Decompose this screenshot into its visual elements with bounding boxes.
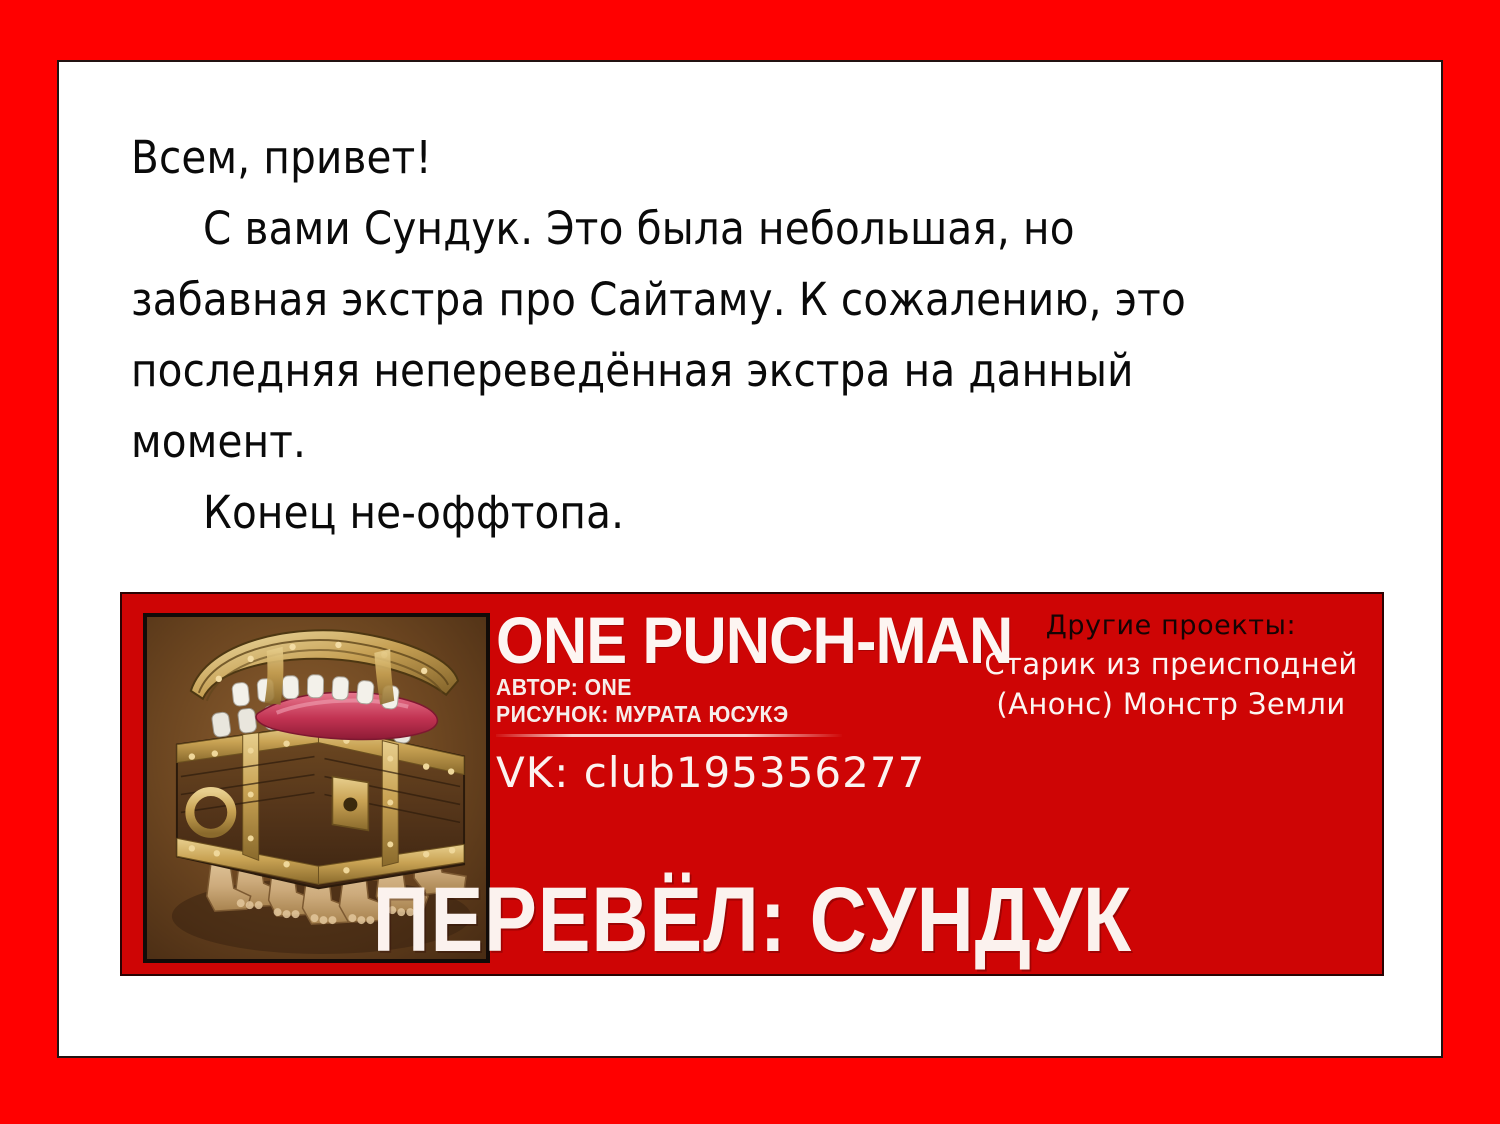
credit-artist: РИСУНОК: МУРАТА ЮСУКЭ	[496, 701, 928, 728]
credit-author: АВТОР: ONE	[496, 674, 928, 701]
translator-note-text: Всем, привет! С вами Сундук. Это была не…	[131, 122, 1391, 548]
translator-signature-text: ПЕРЕВЁЛ: СУНДУК	[372, 872, 1131, 968]
series-title: ONE PUNCH-MAN	[496, 606, 933, 674]
series-title-block: ONE PUNCH-MAN АВТОР: ONE РИСУНОК: МУРАТА…	[496, 606, 966, 797]
note-line-2: С вами Сундук. Это была небольшая, но	[131, 193, 1391, 264]
project-item-2[interactable]: (Анонс) Монстр Земли	[968, 684, 1374, 724]
other-projects-block: Другие проекты: Старик из преисподней (А…	[968, 608, 1374, 724]
credit-divider	[496, 734, 842, 737]
vk-link[interactable]: VK: club195356277	[496, 749, 966, 797]
scanlation-credits-page: Всем, привет! С вами Сундук. Это была не…	[0, 0, 1500, 1124]
credits-banner: ONE PUNCH-MAN АВТОР: ONE РИСУНОК: МУРАТА…	[120, 592, 1384, 976]
white-sheet: Всем, привет! С вами Сундук. Это была не…	[57, 60, 1443, 1058]
project-item-1[interactable]: Старик из преисподней	[968, 644, 1374, 684]
note-line-5: момент.	[131, 406, 1391, 477]
note-line-4: последняя непереведённая экстра на данны…	[131, 335, 1391, 406]
note-line-1: Всем, привет!	[131, 122, 1391, 193]
note-line-6: Конец не-оффтопа.	[131, 477, 1391, 548]
other-projects-heading: Другие проекты:	[968, 608, 1374, 644]
translator-signature: ПЕРЕВЁЛ: СУНДУК	[122, 872, 1382, 968]
note-line-3: забавная экстра про Сайтаму. К сожалению…	[131, 264, 1391, 335]
